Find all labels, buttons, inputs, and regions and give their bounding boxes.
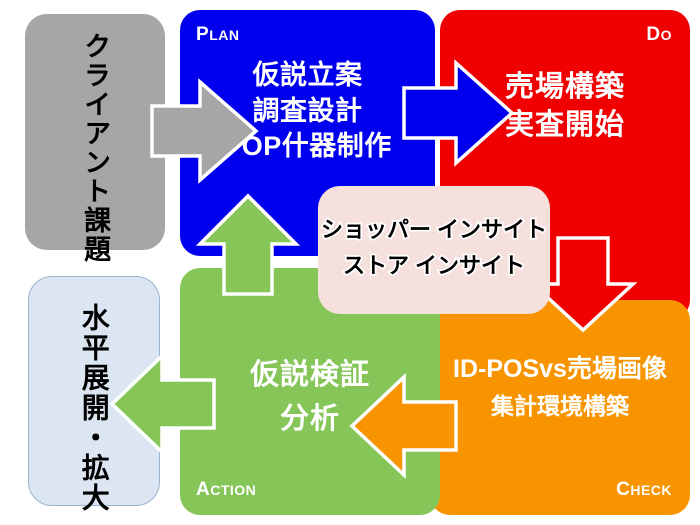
- horizontal-expansion-label: 水平展開・拡大: [79, 303, 108, 513]
- insight-text: ショッパー インサイト ストア インサイト: [318, 212, 550, 283]
- insight-line-2: ストア インサイト: [318, 248, 550, 284]
- client-issue-box[interactable]: クライアント課題: [25, 14, 165, 250]
- check-line-2: 集計環境構築: [430, 389, 690, 425]
- pdca-diagram: PLAN 仮説立案 調査設計 POP什器制作 DO 売場構築 実査開始 CHEC…: [0, 0, 700, 525]
- client-issue-label: クライアント課題: [81, 32, 109, 264]
- plan-phase-label: PLAN: [196, 24, 239, 46]
- insight-line-1: ショッパー インサイト: [318, 212, 550, 248]
- check-phase-label: CHECK: [616, 479, 672, 501]
- check-line-1: ID-POSvs売場画像: [430, 350, 690, 389]
- action-to-plan-arrow-icon: [198, 194, 302, 298]
- check-to-action-arrow-icon: [348, 372, 460, 480]
- insight-box[interactable]: ショッパー インサイト ストア インサイト: [318, 186, 550, 314]
- do-phase-label: DO: [646, 24, 672, 46]
- plan-to-do-arrow-icon: [404, 58, 516, 168]
- check-text: ID-POSvs売場画像 集計環境構築: [430, 350, 690, 424]
- gray-to-plan-arrow-icon: [152, 78, 260, 184]
- action-phase-label: ACTION: [196, 479, 256, 501]
- action-to-output-arrow-icon: [108, 352, 218, 456]
